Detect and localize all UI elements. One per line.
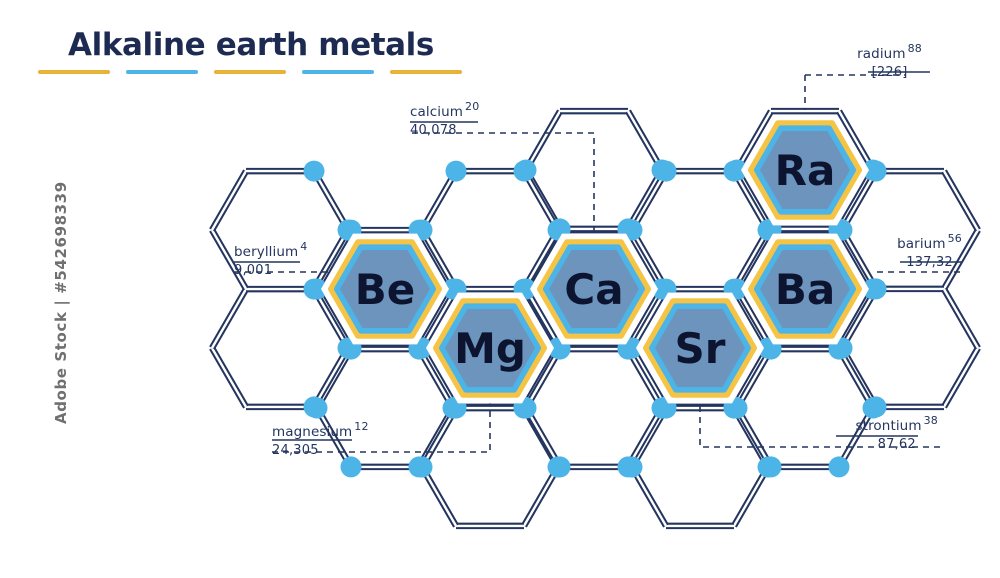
callout-number-magnesium: 12 xyxy=(354,420,368,433)
callout-mass-calcium: 40,078 xyxy=(410,123,479,138)
callout-calcium: calcium20 40,078 xyxy=(410,100,479,138)
infographic-canvas: BeMgCaSrBaRa Alkaline earth metals beryl… xyxy=(0,0,1000,578)
bond-line-core xyxy=(212,171,246,230)
callout-number-beryllium: 4 xyxy=(300,240,307,253)
bond-node xyxy=(304,161,325,182)
callout-mass-magnesium: 24,305 xyxy=(272,443,369,458)
callout-magnesium: magnesium12 24,305 xyxy=(272,420,369,458)
callout-number-radium: 88 xyxy=(908,42,922,55)
element-symbol-magnesium: Mg xyxy=(454,324,526,373)
bond-node xyxy=(829,456,850,477)
callout-mass-beryllium: 9,001 xyxy=(234,263,307,278)
element-symbol-beryllium: Be xyxy=(355,265,416,314)
callout-name-strontium: strontium xyxy=(856,418,922,434)
element-hexagon-layer: BeMgCaSrBaRa xyxy=(321,115,869,404)
callout-beryllium: beryllium4 9,001 xyxy=(234,240,307,278)
title-rule-segment-5 xyxy=(390,70,462,74)
callout-name-radium: radium xyxy=(857,46,905,62)
title-rule-segment-1 xyxy=(38,70,110,74)
element-symbol-calcium: Ca xyxy=(564,265,623,314)
callout-number-strontium: 38 xyxy=(924,414,938,427)
callout-strontium: strontium38 87,62 xyxy=(856,414,938,452)
element-symbol-radium: Ra xyxy=(775,146,836,195)
bond-node xyxy=(724,161,745,182)
element-symbol-barium: Ba xyxy=(775,265,835,314)
page-title: Alkaline earth metals xyxy=(68,28,488,62)
callout-barium: barium56 137,32 xyxy=(897,232,962,270)
title-rule-segment-4 xyxy=(302,70,374,74)
bond-node xyxy=(341,456,362,477)
callout-name-beryllium: beryllium xyxy=(234,244,298,260)
title-underline-rule xyxy=(38,70,468,74)
bond-node xyxy=(412,457,433,478)
stock-watermark: Adobe Stock | #542698339 xyxy=(52,194,70,424)
bond-line-core xyxy=(944,289,978,348)
callout-name-magnesium: magnesium xyxy=(272,424,352,440)
callout-number-barium: 56 xyxy=(948,232,962,245)
title-block: Alkaline earth metals xyxy=(68,28,488,62)
bond-line-core xyxy=(212,289,246,348)
bond-node xyxy=(446,161,467,182)
callout-mass-radium: [226] xyxy=(857,65,922,80)
bond-line-core xyxy=(944,348,978,407)
bond-line-core xyxy=(212,348,246,407)
bond-node xyxy=(866,161,887,182)
callout-mass-barium: 137,32 xyxy=(897,255,962,270)
bond-node xyxy=(618,456,639,477)
bond-node xyxy=(514,161,535,182)
bond-line-core xyxy=(944,171,978,230)
callout-radium: radium88 [226] xyxy=(857,42,922,80)
bond-node xyxy=(304,396,325,417)
element-symbol-strontium: Sr xyxy=(675,324,726,373)
title-rule-segment-2 xyxy=(126,70,198,74)
title-rule-segment-3 xyxy=(214,70,286,74)
callout-name-calcium: calcium xyxy=(410,104,463,120)
bond-node xyxy=(761,456,782,477)
bond-node xyxy=(550,456,571,477)
callout-number-calcium: 20 xyxy=(465,100,479,113)
callout-mass-strontium: 87,62 xyxy=(856,437,938,452)
callout-name-barium: barium xyxy=(897,236,945,252)
bond-node xyxy=(656,161,677,182)
molecular-honeycomb-diagram: BeMgCaSrBaRa xyxy=(0,0,1000,578)
